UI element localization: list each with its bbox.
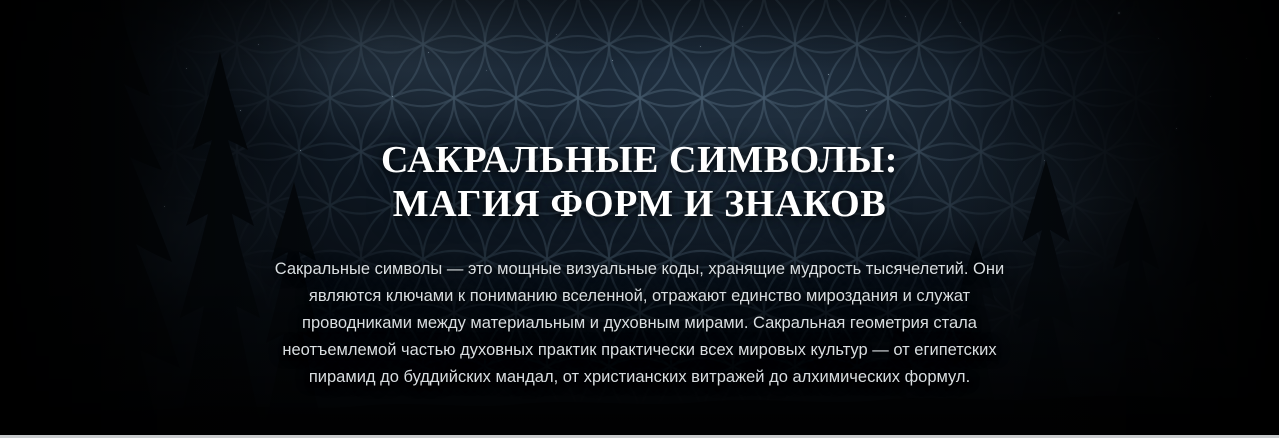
hero-banner: САКРАЛЬНЫЕ СИМВОЛЫ: МАГИЯ ФОРМ И ЗНАКОВ … — [0, 0, 1279, 438]
page-title-line-2: МАГИЯ ФОРМ И ЗНАКОВ — [381, 182, 898, 226]
page-title-line-1: САКРАЛЬНЫЕ СИМВОЛЫ: — [381, 138, 898, 182]
page-title: САКРАЛЬНЫЕ СИМВОЛЫ: МАГИЯ ФОРМ И ЗНАКОВ — [381, 0, 898, 226]
hero-content: САКРАЛЬНЫЕ СИМВОЛЫ: МАГИЯ ФОРМ И ЗНАКОВ … — [0, 0, 1279, 438]
hero-description: Сакральные символы — это мощные визуальн… — [255, 226, 1025, 391]
